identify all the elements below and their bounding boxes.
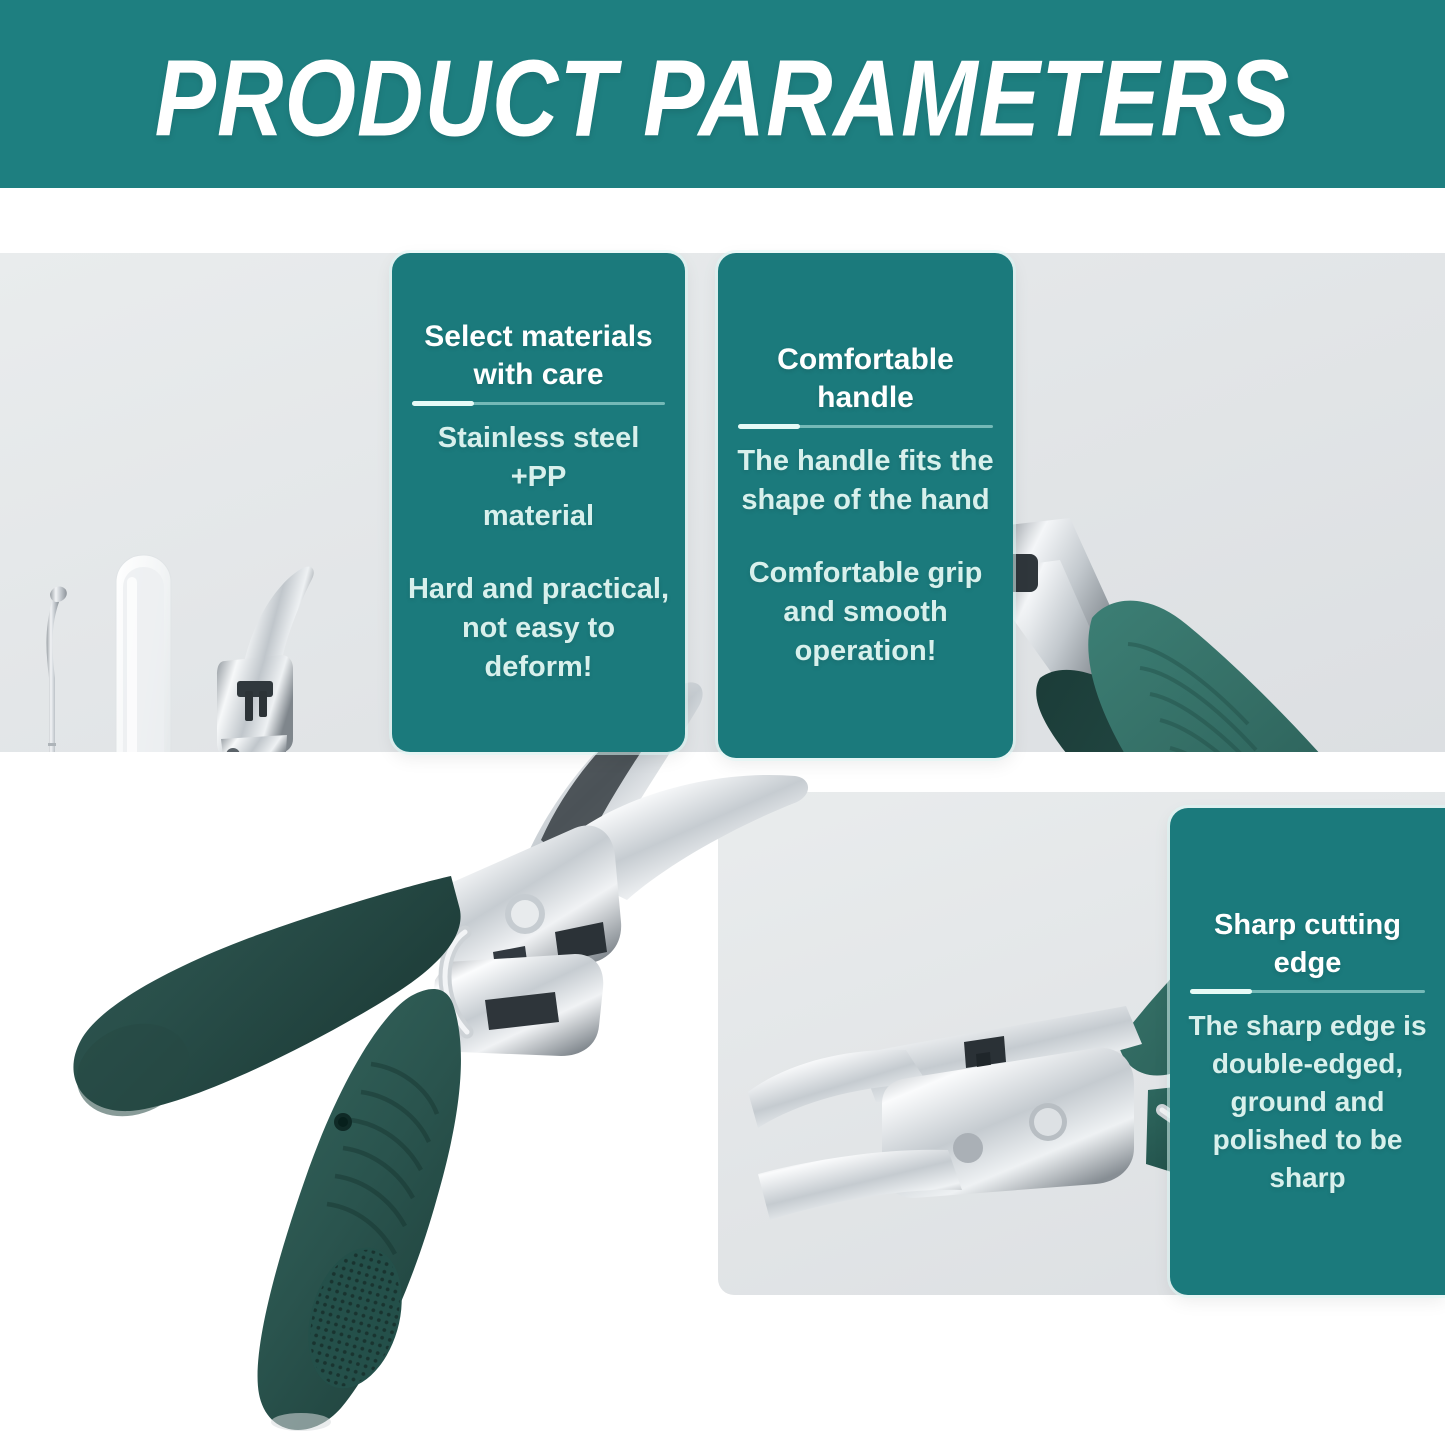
card-body-line: material	[406, 497, 671, 536]
page-title: PRODUCT PARAMETERS	[0, 34, 1445, 164]
card-body-line: Hard and practical,	[406, 570, 671, 609]
card-body-line: The handle fits the	[732, 442, 999, 481]
card-body-line: shape of the hand	[732, 481, 999, 520]
info-card-materials[interactable]: Select materials with care Stainless ste…	[392, 253, 685, 752]
card-body-line: Comfortable grip	[732, 554, 999, 593]
card-body-line: polished to be	[1184, 1121, 1431, 1159]
card-heading-handle: Comfortable handle	[732, 341, 999, 417]
card-divider	[1190, 990, 1425, 993]
card-divider	[738, 425, 993, 428]
card-heading-materials: Select materials with care	[406, 318, 671, 394]
info-card-sharp-edge[interactable]: Sharp cutting edge The sharp edge is dou…	[1170, 808, 1445, 1295]
card-body-line: ground and	[1184, 1083, 1431, 1121]
card-body-line: The sharp edge is	[1184, 1007, 1431, 1045]
info-card-handle[interactable]: Comfortable handle The handle fits the s…	[718, 253, 1013, 758]
card-body-line: operation!	[732, 632, 999, 671]
card-body-line: and smooth	[732, 593, 999, 632]
card-body-line: sharp	[1184, 1159, 1431, 1197]
card-divider	[412, 402, 665, 405]
card-heading-sharp: Sharp cutting edge	[1184, 906, 1431, 982]
page-header-banner: PRODUCT PARAMETERS	[0, 0, 1445, 188]
card-body-line: double-edged,	[1184, 1045, 1431, 1083]
card-body-line: Stainless steel +PP	[406, 419, 671, 497]
handle-closeup-image	[1000, 508, 1445, 752]
clipper-open-view-image	[55, 670, 815, 1450]
card-body-line: not easy to deform!	[406, 609, 671, 687]
